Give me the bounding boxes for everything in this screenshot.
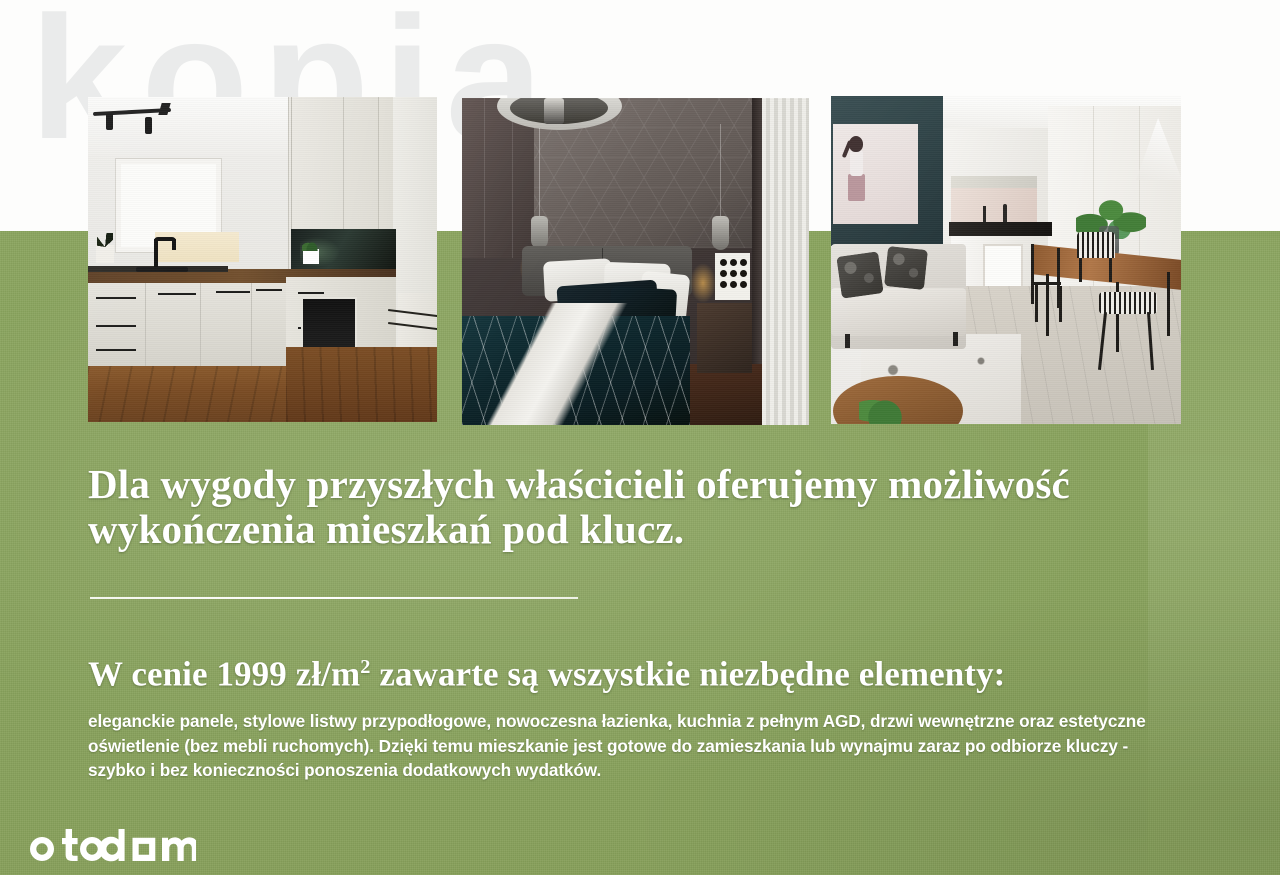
price-exponent: 2 — [360, 656, 370, 678]
price-heading: W cenie 1999 zł/m2 zawarte są wszystkie … — [88, 647, 1198, 695]
body-paragraph: eleganckie panele, stylowe listwy przypo… — [88, 709, 1190, 783]
headline-line-2: wykończenia mieszkań pod klucz. — [88, 507, 1188, 552]
headline-line-1: Dla wygody przyszłych właścicieli oferuj… — [88, 462, 1188, 507]
headline: Dla wygody przyszłych właścicieli oferuj… — [88, 462, 1188, 552]
price-prefix: W cenie 1999 zł/m — [88, 655, 360, 694]
section-divider — [90, 597, 578, 599]
otodom-logo[interactable] — [28, 828, 196, 870]
offer-text-content: Dla wygody przyszłych właścicieli oferuj… — [0, 0, 1280, 875]
offer-banner: kopia — [0, 0, 1280, 875]
price-suffix: zawarte są wszystkie niezbędne elementy: — [371, 655, 1006, 694]
